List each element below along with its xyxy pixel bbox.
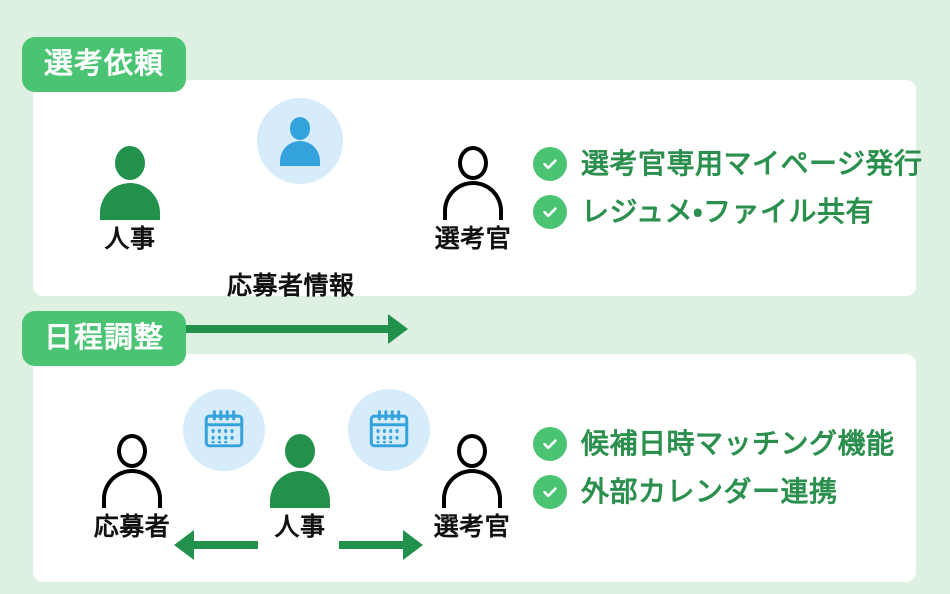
- flow-node-label-interviewer: 選考官: [434, 515, 511, 540]
- flow-node-applicant: 応募者: [77, 416, 187, 540]
- feature-list-schedule-adjustment: 候補日時マッチング機能 外部カレンダー連携: [513, 427, 916, 509]
- flow-caption-applicant-info: 応募者情報: [227, 274, 355, 299]
- flow-node-label-interviewer: 選考官: [435, 227, 512, 252]
- feature-label: 候補日時マッチング機能: [581, 429, 895, 460]
- check-circle-icon: [533, 195, 567, 229]
- feature-label: 外部カレンダー連携: [581, 477, 838, 508]
- flow-node-interviewer: 選考官: [418, 128, 528, 252]
- section-schedule-adjustment: 日程調整 応募者: [33, 311, 916, 582]
- card-selection-request: 人事 応募者情報: [33, 80, 916, 296]
- calendar-icon: [366, 407, 412, 453]
- person-in-blue-circle-icon: [257, 98, 343, 184]
- calendar-icon: [201, 407, 247, 453]
- person-outline-icon: [442, 416, 502, 508]
- feature-item: レジュメ・ファイル共有: [533, 195, 922, 229]
- flow-node-interviewer: 選考官: [417, 416, 527, 540]
- flow-node-label-applicant: 応募者: [94, 515, 171, 540]
- feature-item: 外部カレンダー連携: [533, 475, 916, 509]
- feature-label: レジュメ・ファイル共有: [581, 197, 874, 228]
- flow-diagram-schedule-adjustment: 応募者: [33, 354, 513, 582]
- section-badge-selection-request: 選考依頼: [22, 37, 186, 92]
- feature-item: 選考官専用マイページ発行: [533, 147, 922, 181]
- feature-list-selection-request: 選考官専用マイページ発行 レジュメ・ファイル共有: [513, 147, 922, 229]
- person-outline-icon: [102, 416, 162, 508]
- person-outline-icon: [443, 128, 503, 220]
- flow-node-label-hr: 人事: [274, 515, 325, 540]
- flow-arrow-hr-to-interviewer: [339, 530, 423, 560]
- infographic-canvas: 選考依頼 人事: [0, 0, 950, 594]
- section-badge-schedule-adjustment: 日程調整: [22, 311, 186, 366]
- check-circle-icon: [533, 475, 567, 509]
- check-circle-icon: [533, 147, 567, 181]
- flow-arrow-hr-to-applicant: [174, 530, 258, 560]
- person-solid-green-icon: [270, 416, 330, 508]
- check-circle-icon: [533, 427, 567, 461]
- feature-item: 候補日時マッチング機能: [533, 427, 916, 461]
- card-schedule-adjustment: 応募者: [33, 354, 916, 582]
- person-solid-green-icon: [100, 128, 160, 220]
- flow-node-hr: 人事: [245, 416, 355, 540]
- flow-arrow-hr-to-interviewer: [175, 314, 408, 344]
- flow-node-hr: 人事: [75, 128, 185, 252]
- flow-diagram-selection-request: 人事 応募者情報: [33, 80, 513, 296]
- flow-node-label-hr: 人事: [104, 227, 155, 252]
- section-selection-request: 選考依頼 人事: [33, 37, 916, 296]
- feature-label: 選考官専用マイページ発行: [581, 149, 922, 180]
